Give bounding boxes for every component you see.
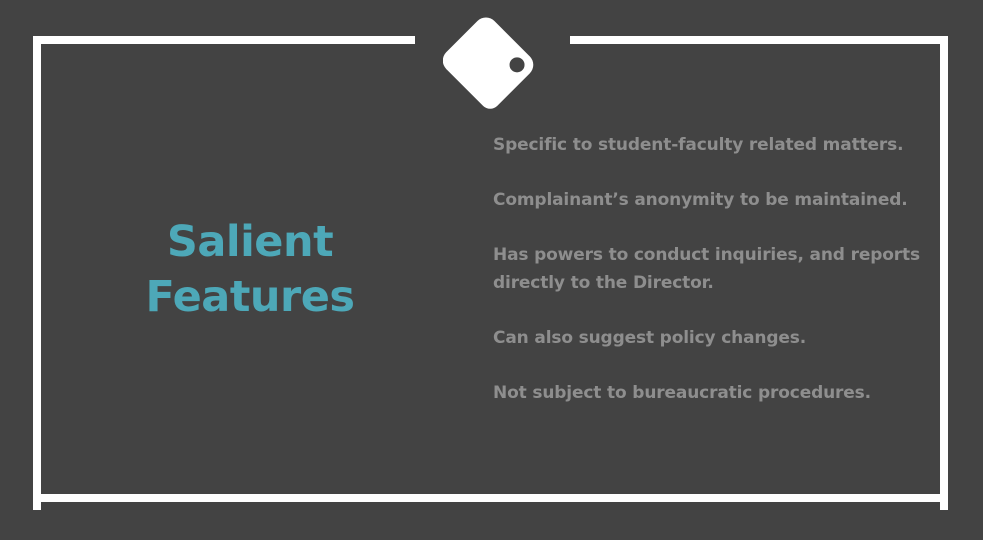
frame-border-right [940, 36, 948, 510]
frame-border-top-right [570, 36, 948, 44]
slide-title-line-1: Salient [60, 215, 440, 270]
list-item: Not subject to bureaucratic procedures. [493, 379, 923, 407]
list-item: Can also suggest policy changes. [493, 324, 923, 352]
list-item: Complainant’s anonymity to be maintained… [493, 186, 923, 214]
slide-canvas: Salient Features Specific to student-fac… [0, 0, 983, 540]
slide-title-line-2: Features [60, 270, 440, 325]
list-item: Specific to student-faculty related matt… [493, 131, 923, 159]
salient-features-list: Specific to student-faculty related matt… [493, 131, 923, 407]
frame-border-left [33, 36, 41, 510]
tag-icon [443, 12, 543, 112]
slide-title: Salient Features [60, 215, 440, 325]
list-item: Has powers to conduct inquiries, and rep… [493, 241, 923, 297]
frame-border-bottom [33, 494, 948, 502]
frame-border-top-left [33, 36, 415, 44]
